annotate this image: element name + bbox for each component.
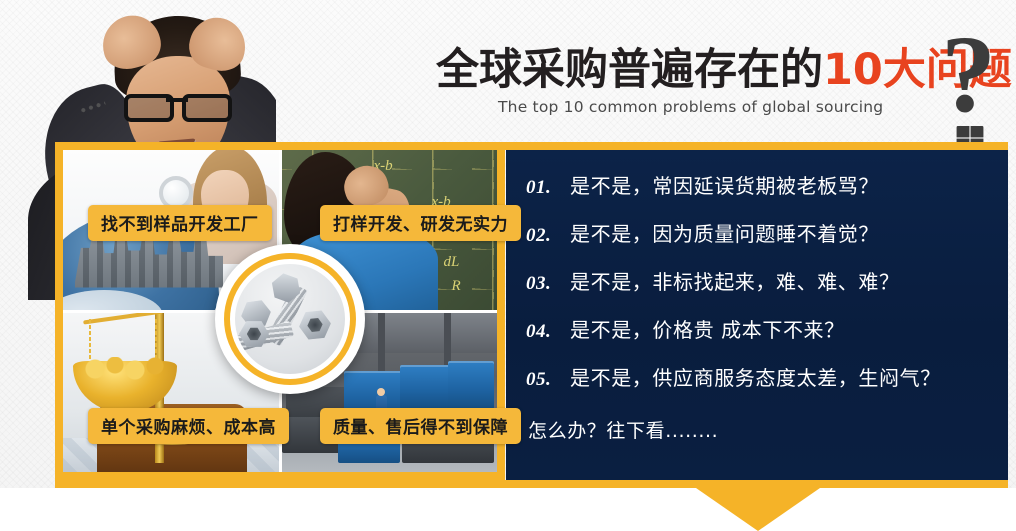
list-item-text: 是不是，供应商服务态度太差，生闷气？: [570, 362, 941, 391]
question-mark-icon: ?: [941, 22, 996, 126]
collage-label-4: 质量、售后得不到保障: [320, 408, 521, 444]
list-item-text: 是不是，非标找起来，难、难、难？: [570, 266, 900, 295]
nut-hole-2: [307, 317, 324, 333]
headline-block: 全球采购普遍存在的10大问题 The top 10 common problem…: [436, 42, 1016, 134]
ceiling-beam-2: [378, 313, 385, 375]
collage-label-2: 打样开发、研发无实力: [320, 205, 521, 241]
badge-photo: [235, 264, 345, 374]
problems-panel: 01. 是不是，常因延误货期被老板骂？ 02. 是不是，因为质量问题睡不着觉？ …: [506, 142, 1008, 480]
list-item-text: 是不是，常因延误货期被老板骂？: [570, 170, 879, 199]
nut-hole-1: [247, 327, 261, 340]
globe-landmass: [63, 290, 163, 310]
equation-4: dL: [444, 254, 460, 271]
eyeglasses-bridge: [166, 98, 188, 102]
scale-beam: [83, 313, 163, 325]
list-item: 05. 是不是，供应商服务态度太差，生闷气？: [526, 362, 996, 410]
lower-white-band: [0, 488, 1016, 531]
page-subtitle: The top 10 common problems of global sou…: [498, 98, 883, 116]
panel-footer-text: 怎么办？往下看........: [526, 416, 996, 443]
collage-label-1: 找不到样品开发工厂: [88, 205, 272, 241]
list-item: 02. 是不是，因为质量问题睡不着觉？: [526, 218, 996, 266]
list-item: 01. 是不是，常因延误货期被老板骂？: [526, 170, 996, 218]
scroll-down-arrow-icon: [696, 488, 820, 531]
bottom-orange-rail: [55, 480, 1008, 488]
gold-nuggets: [85, 357, 167, 383]
list-item-number: 03.: [526, 273, 570, 295]
list-item-number: 05.: [526, 369, 570, 391]
page-title-main: 全球采购普遍存在的: [436, 45, 823, 95]
list-item-text: 是不是，因为质量问题睡不着觉？: [570, 218, 879, 247]
problems-list: 01. 是不是，常因延误货期被老板骂？ 02. 是不是，因为质量问题睡不着觉？ …: [526, 170, 996, 443]
list-item: 03. 是不是，非标找起来，难、难、难？: [526, 266, 996, 314]
machine-blue-3: [448, 361, 494, 409]
slide-canvas: 全球采购普遍存在的10大问题 The top 10 common problem…: [0, 0, 1016, 531]
page-title: 全球采购普遍存在的10大问题: [436, 42, 1012, 98]
collage-label-3: 单个采购麻烦、成本高: [88, 408, 289, 444]
bolts-and-nuts-badge: [215, 244, 365, 394]
worker-head: [377, 388, 385, 396]
eyeglasses-icon: [124, 92, 232, 116]
machine-blue-2: [400, 365, 452, 409]
hex-nut-2: [298, 308, 333, 341]
list-item-number: 01.: [526, 177, 570, 199]
list-item-text: 是不是，价格贵 成本下不来？: [570, 314, 845, 343]
equation-5: R: [452, 278, 461, 295]
list-item-number: 04.: [526, 321, 570, 343]
list-item-number: 02.: [526, 225, 570, 247]
list-item: 04. 是不是，价格贵 成本下不来？: [526, 314, 996, 362]
